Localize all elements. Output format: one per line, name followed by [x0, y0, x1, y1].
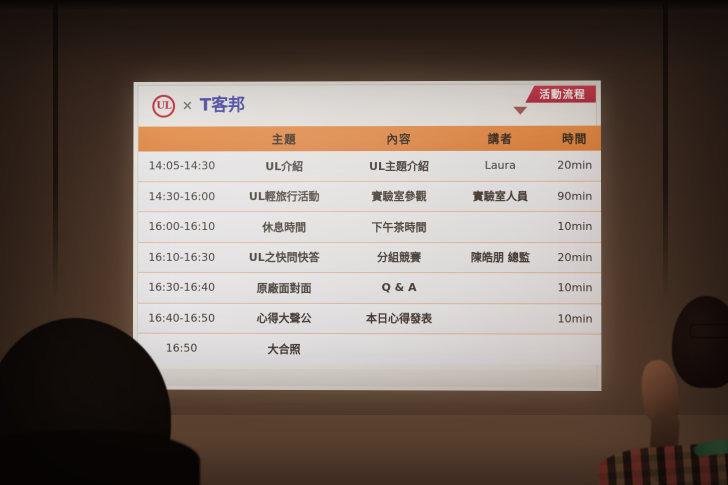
- col-header-time-range: [138, 126, 225, 151]
- slide-body: UL × T客邦 活動流程 主題 內容 講者: [137, 83, 598, 386]
- cell-content: 分組競賽: [343, 242, 455, 273]
- chevron-down-marker-icon: [513, 107, 527, 115]
- schedule-table-head: 主題 內容 講者 時間: [138, 126, 601, 152]
- table-row: 16:00-16:10 休息時間 下午茶時間 10min: [138, 211, 601, 242]
- cell-speaker: [455, 303, 546, 334]
- brand-lockup: UL × T客邦: [152, 95, 245, 118]
- presentation-slide: UL × T客邦 活動流程 主題 內容 講者: [133, 80, 602, 391]
- wall-seam-left: [53, 0, 58, 300]
- cell-topic: 休息時間: [225, 212, 343, 242]
- cell-speaker: [455, 211, 546, 242]
- partner-brand-text: T客邦: [200, 98, 245, 115]
- cell-topic: UL介紹: [226, 151, 344, 181]
- cell-topic: 心得大聲公: [225, 303, 343, 334]
- cell-duration: 20min: [546, 151, 602, 181]
- projection-screen: UL × T客邦 活動流程 主題 內容 講者: [133, 80, 602, 391]
- cell-content: [343, 334, 455, 364]
- screenshot-root: UL × T客邦 活動流程 主題 內容 講者: [0, 0, 728, 485]
- ul-circle-mark-icon: UL: [152, 95, 175, 118]
- cell-speaker: [455, 334, 546, 364]
- cell-time: 16:10-16:30: [138, 242, 225, 272]
- glasses-icon: [690, 324, 728, 338]
- cell-time: 16:40-16:50: [138, 303, 225, 334]
- cell-duration: 10min: [546, 303, 602, 334]
- cell-topic: UL輕旅行活動: [225, 181, 343, 212]
- cell-time: 14:30-16:00: [138, 181, 225, 211]
- table-row: 16:10-16:30 UL之快問快答 分組競賽 陳皓朋 總監 20min: [138, 242, 601, 273]
- cell-topic: 大合照: [225, 333, 343, 363]
- cell-content: Q & A: [343, 272, 455, 303]
- schedule-table: 主題 內容 講者 時間 14:05-14:30 UL介紹 UL主題介紹 Laur…: [138, 126, 602, 365]
- table-row: 16:40-16:50 心得大聲公 本日心得發表 10min: [138, 303, 602, 334]
- ceiling-strip: [0, 0, 728, 9]
- table-row: 14:05-14:30 UL介紹 UL主題介紹 Laura 20min: [138, 151, 601, 182]
- cell-time: 16:30-16:40: [138, 272, 225, 303]
- ul-mark-text: UL: [156, 101, 171, 111]
- cell-duration: [546, 334, 602, 364]
- cell-content: UL主題介紹: [343, 151, 455, 181]
- cell-duration: 10min: [546, 211, 602, 242]
- cell-time: 14:05-14:30: [138, 151, 225, 181]
- cell-speaker: 陳皓朋 總監: [455, 242, 546, 273]
- table-row: 16:50 大合照: [138, 333, 602, 364]
- cell-content: 實驗室參觀: [343, 181, 455, 212]
- collab-cross-icon: ×: [182, 99, 193, 114]
- section-ribbon-badge: 活動流程: [525, 85, 596, 102]
- col-header-speaker: 講者: [455, 126, 545, 151]
- col-header-content: 內容: [343, 126, 455, 151]
- table-header-row: 主題 內容 講者 時間: [138, 126, 601, 152]
- cell-topic: UL之快問快答: [225, 242, 343, 273]
- table-row: 16:30-16:40 原廠面對面 Q & A 10min: [138, 272, 601, 303]
- col-header-duration: 時間: [545, 126, 601, 151]
- cell-speaker: Laura: [455, 151, 545, 181]
- wall-seam-right: [663, 0, 668, 300]
- cell-duration: 20min: [546, 242, 602, 273]
- cell-content: 本日心得發表: [343, 303, 455, 334]
- cell-content: 下午茶時間: [343, 211, 455, 242]
- table-row: 14:30-16:00 UL輕旅行活動 實驗室參觀 實驗室人員 90min: [138, 181, 601, 212]
- cell-duration: 10min: [546, 273, 602, 304]
- schedule-table-body: 14:05-14:30 UL介紹 UL主題介紹 Laura 20min 14:3…: [138, 151, 602, 365]
- cell-speaker: 實驗室人員: [455, 181, 546, 212]
- cell-topic: 原廠面對面: [225, 272, 343, 303]
- cell-duration: 90min: [546, 181, 602, 212]
- cell-time: 16:00-16:10: [138, 212, 225, 242]
- col-header-topic: 主題: [226, 126, 343, 151]
- cell-speaker: [455, 273, 546, 304]
- slide-footer-band: [138, 369, 597, 386]
- slide-header: UL × T客邦 活動流程: [138, 84, 595, 126]
